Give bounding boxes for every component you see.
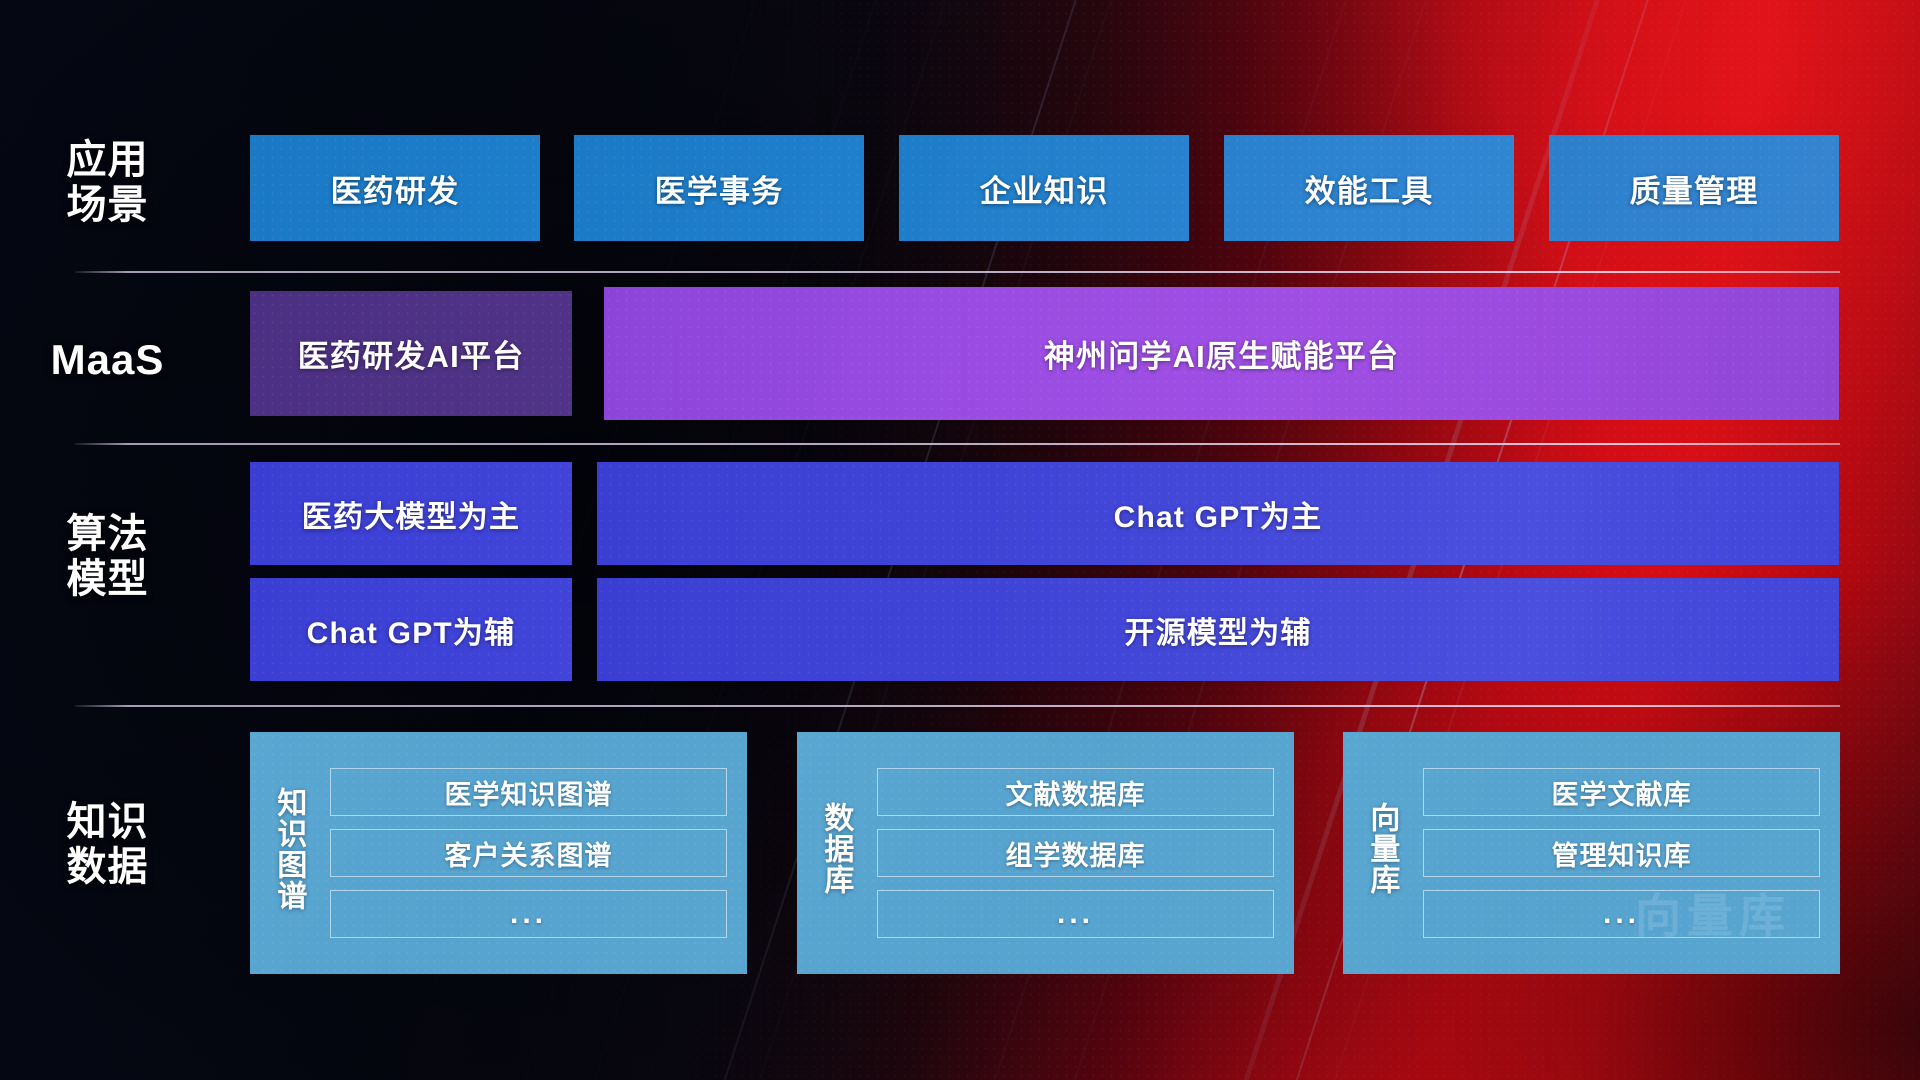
row-divider-2 <box>75 443 1840 445</box>
scenario-box-5[interactable]: 质量管理 <box>1549 135 1839 241</box>
knowledge-item-list-2: 文献数据库 组学数据库 ... <box>873 750 1294 956</box>
knowledge-item-more[interactable]: ... <box>330 890 727 938</box>
row-divider-1 <box>75 271 1840 273</box>
row-divider-3 <box>75 705 1840 707</box>
algo-box-chatgpt-primary[interactable]: Chat GPT为主 <box>597 462 1839 565</box>
knowledge-item[interactable]: 组学数据库 <box>877 829 1274 877</box>
knowledge-group-database: 数据库 文献数据库 组学数据库 ... <box>797 732 1294 974</box>
row-label-application-scenario: 应用 场景 <box>0 138 215 228</box>
row-label-algorithm-model: 算法 模型 <box>0 512 215 602</box>
scenario-box-1[interactable]: 医药研发 <box>250 135 540 241</box>
algo-box-opensource-secondary[interactable]: 开源模型为辅 <box>597 578 1839 681</box>
knowledge-item-more[interactable]: ... <box>877 890 1274 938</box>
knowledge-item-list-1: 医学知识图谱 客户关系图谱 ... <box>326 750 747 956</box>
knowledge-item[interactable]: 客户关系图谱 <box>330 829 727 877</box>
knowledge-item[interactable]: 医学文献库 <box>1423 768 1820 816</box>
knowledge-group-label-3: 向量库 <box>1343 802 1419 904</box>
knowledge-item[interactable]: 文献数据库 <box>877 768 1274 816</box>
maas-box-pharma-ai-platform[interactable]: 医药研发AI平台 <box>250 291 572 416</box>
knowledge-item[interactable]: 管理知识库 <box>1423 829 1820 877</box>
architecture-diagram: 应用 场景 医药研发 医学事务 企业知识 效能工具 质量管理 MaaS 医药研发… <box>0 0 1920 1080</box>
knowledge-group-label-1: 知识图谱 <box>250 787 326 920</box>
knowledge-group-vector-store: 向量库 医学文献库 管理知识库 ... <box>1343 732 1840 974</box>
algo-box-chatgpt-secondary[interactable]: Chat GPT为辅 <box>250 578 572 681</box>
knowledge-item-more[interactable]: ... <box>1423 890 1820 938</box>
scenario-box-3[interactable]: 企业知识 <box>899 135 1189 241</box>
knowledge-item-list-3: 医学文献库 管理知识库 ... <box>1419 750 1840 956</box>
knowledge-group-label-2: 数据库 <box>797 802 873 904</box>
maas-box-shenzhou-wenxue-platform[interactable]: 神州问学AI原生赋能平台 <box>604 287 1839 420</box>
scenario-box-2[interactable]: 医学事务 <box>574 135 864 241</box>
row-label-maas: MaaS <box>0 336 215 383</box>
row-label-knowledge-data: 知识 数据 <box>0 800 215 890</box>
algo-box-pharma-llm-primary[interactable]: 医药大模型为主 <box>250 462 572 565</box>
knowledge-group-knowledge-graph: 知识图谱 医学知识图谱 客户关系图谱 ... <box>250 732 747 974</box>
knowledge-item[interactable]: 医学知识图谱 <box>330 768 727 816</box>
scenario-box-4[interactable]: 效能工具 <box>1224 135 1514 241</box>
